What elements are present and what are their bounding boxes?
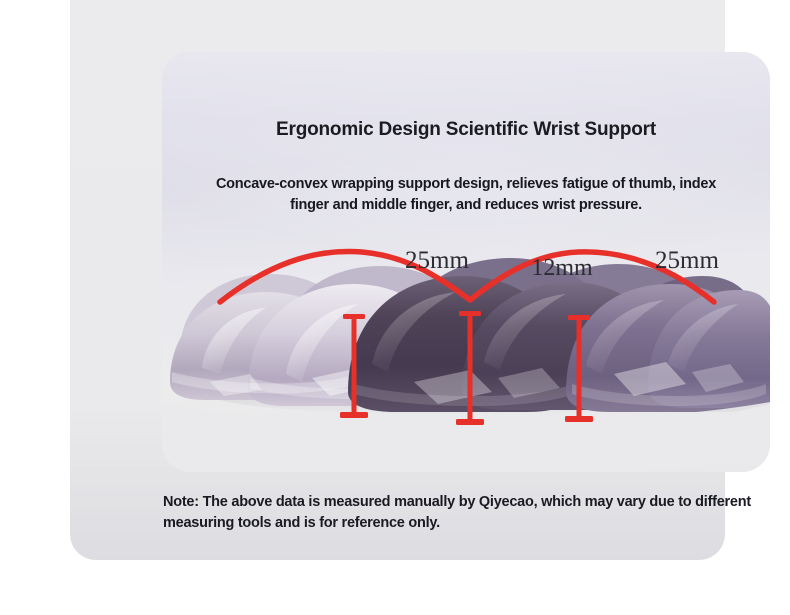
outer-card: Ergonomic Design Scientific Wrist Suppor… (70, 0, 725, 560)
page-subtitle: Concave-convex wrapping support design, … (186, 174, 746, 216)
hero-panel: Ergonomic Design Scientific Wrist Suppor… (162, 52, 770, 472)
dimension-label-right: 25mm (655, 247, 719, 275)
page-title: Ergonomic Design Scientific Wrist Suppor… (162, 119, 770, 141)
infographic-canvas: Ergonomic Design Scientific Wrist Suppor… (0, 0, 790, 615)
subtitle-line-1: Concave-convex wrapping support design, … (186, 174, 746, 195)
note-line-2: measuring tools and is for reference onl… (163, 513, 783, 534)
note-line-1: Note: The above data is measured manuall… (163, 492, 783, 513)
subtitle-line-2: finger and middle finger, and reduces wr… (186, 195, 746, 216)
dimension-label-center: 12mm (531, 255, 592, 282)
dimension-label-left: 25mm (405, 247, 469, 275)
disclaimer-note: Note: The above data is measured manuall… (163, 492, 783, 534)
